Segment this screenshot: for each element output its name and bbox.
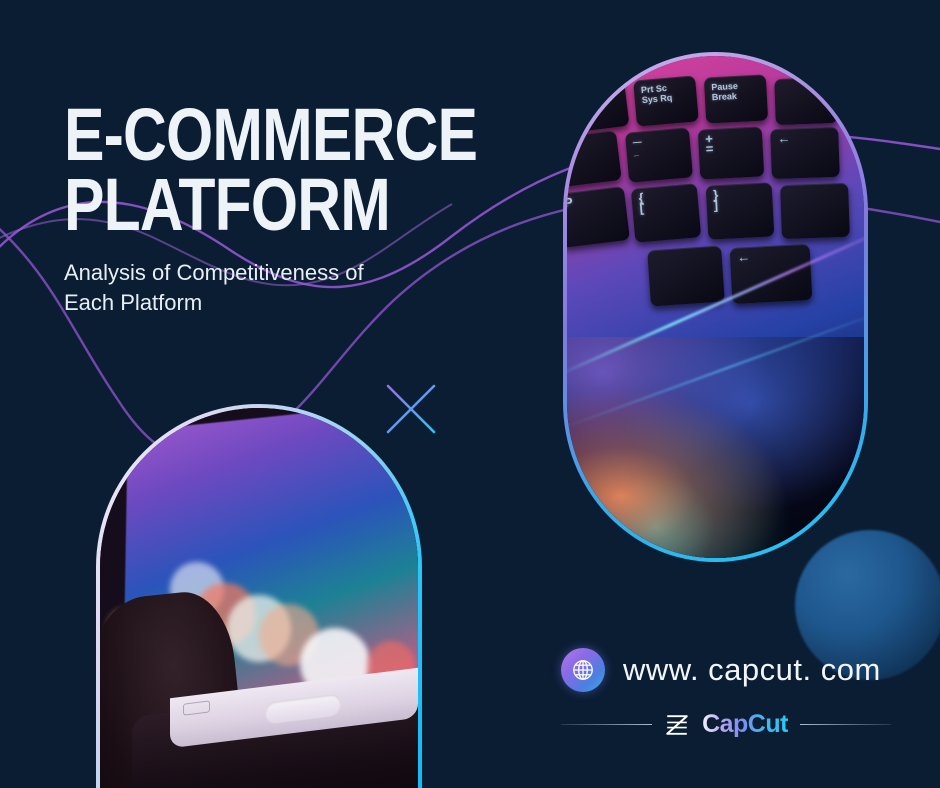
phone-image-frame <box>96 404 422 788</box>
keyboard-image: Prt ScSys Rq PauseBreak O —_ += ← P {[ }… <box>567 56 864 558</box>
page-title: E-COMMERCE PLATFORM <box>64 100 417 241</box>
headline-line-1: E-COMMERCE <box>64 100 417 170</box>
globe-icon <box>561 648 605 692</box>
subtitle-line-2: Each Platform <box>64 288 464 318</box>
keyboard-image-frame: Prt ScSys Rq PauseBreak O —_ += ← P {[ }… <box>563 52 868 562</box>
subtitle-line-1: Analysis of Competitiveness of <box>64 258 464 288</box>
divider-right <box>800 724 891 725</box>
divider-left <box>561 724 652 725</box>
page-subtitle: Analysis of Competitiveness of Each Plat… <box>64 258 464 317</box>
headline-line-2: PLATFORM <box>64 170 417 240</box>
website-url[interactable]: www. capcut. com <box>623 652 881 688</box>
poster-canvas: E-COMMERCE PLATFORM Analysis of Competit… <box>0 0 940 788</box>
brand-row: CapCut <box>561 710 891 739</box>
brand-name: CapCut <box>702 710 788 739</box>
website-row[interactable]: www. capcut. com <box>561 648 881 692</box>
keyboard-keys: Prt ScSys Rq PauseBreak O —_ += ← P {[ }… <box>567 56 864 377</box>
phone-image <box>100 408 418 788</box>
capcut-logo-icon <box>664 713 690 737</box>
